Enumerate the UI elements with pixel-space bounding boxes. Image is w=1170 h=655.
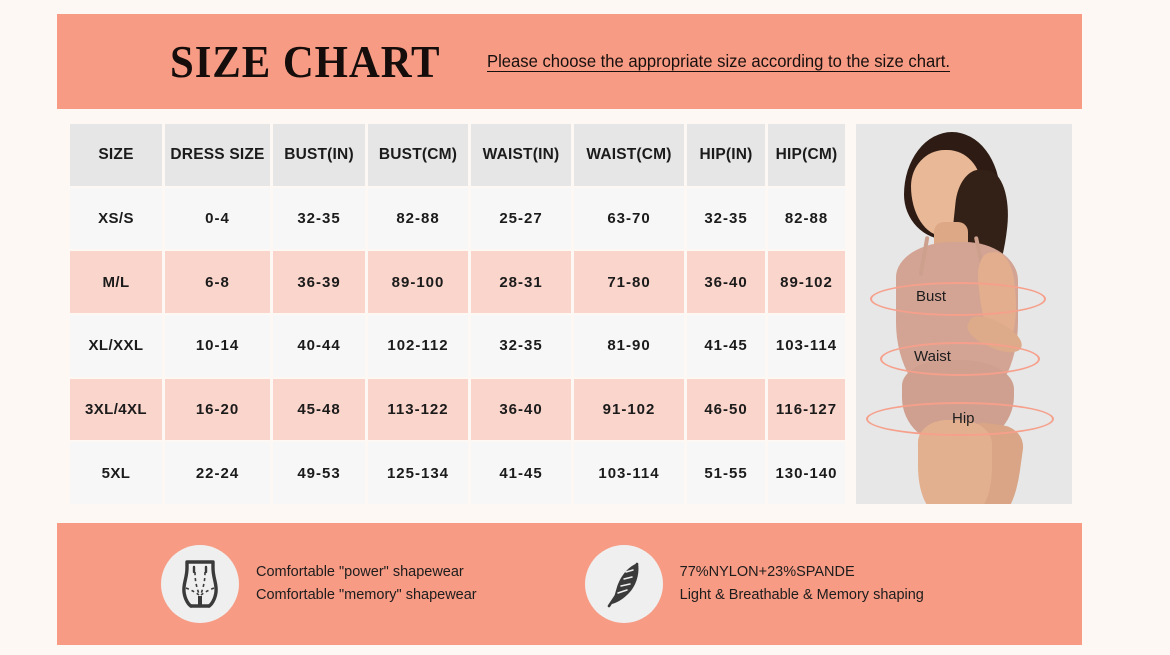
cell-dress-size: 16-20 [165,379,270,441]
column-header-size: SIZE [70,124,162,186]
feature-fabric-line1: 77%NYLON+23%SPANDE [680,561,924,584]
cell-size: 3XL/4XL [70,379,162,441]
cell-hip-in: 32-35 [687,188,765,250]
cell-bust-in: 32-35 [273,188,365,250]
page-title: SIZE CHART [170,39,440,85]
cell-hip-in: 36-40 [687,251,765,313]
cell-waist-in: 32-35 [471,315,571,377]
column-header-hip-cm: HIP(CM) [768,124,845,186]
cell-hip-cm: 116-127 [768,379,845,441]
cell-bust-cm: 102-112 [368,315,468,377]
cell-hip-in: 46-50 [687,379,765,441]
cell-bust-cm: 125-134 [368,442,468,504]
feature-shapewear-text: Comfortable "power" shapewear Comfortabl… [256,561,477,608]
cell-waist-in: 41-45 [471,442,571,504]
feather-icon [585,545,663,623]
column-header-bust-in: BUST(IN) [273,124,365,186]
feature-shapewear-line1: Comfortable "power" shapewear [256,561,477,584]
cell-waist-cm: 63-70 [574,188,684,250]
cell-size: 5XL [70,442,162,504]
bust-label: Bust [916,288,946,305]
cell-dress-size: 10-14 [165,315,270,377]
table-row: M/L 6-8 36-39 89-100 28-31 71-80 36-40 8… [70,251,845,313]
cell-dress-size: 0-4 [165,188,270,250]
cell-bust-in: 45-48 [273,379,365,441]
column-header-bust-cm: BUST(CM) [368,124,468,186]
footer-band: Comfortable "power" shapewear Comfortabl… [57,523,1082,645]
table-row: XS/S 0-4 32-35 82-88 25-27 63-70 32-35 8… [70,188,845,250]
cell-hip-in: 41-45 [687,315,765,377]
cell-waist-cm: 81-90 [574,315,684,377]
feature-shapewear: Comfortable "power" shapewear Comfortabl… [161,545,477,623]
cell-waist-cm: 91-102 [574,379,684,441]
column-header-dress-size: DRESS SIZE [165,124,270,186]
waist-measure-ring [880,342,1040,376]
cell-dress-size: 6-8 [165,251,270,313]
header-subtitle: Please choose the appropriate size accor… [487,51,950,72]
bust-measure-ring [870,282,1046,316]
column-header-waist-in: WAIST(IN) [471,124,571,186]
cell-waist-in: 36-40 [471,379,571,441]
cell-bust-in: 40-44 [273,315,365,377]
table-row: 5XL 22-24 49-53 125-134 41-45 103-114 51… [70,442,845,504]
cell-waist-in: 28-31 [471,251,571,313]
table-row: XL/XXL 10-14 40-44 102-112 32-35 81-90 4… [70,315,845,377]
hip-label: Hip [952,410,975,427]
cell-bust-in: 49-53 [273,442,365,504]
cell-size: XL/XXL [70,315,162,377]
cell-size: XS/S [70,188,162,250]
model-photo: Bust Waist Hip [856,124,1072,504]
cell-size: M/L [70,251,162,313]
table-row: 3XL/4XL 16-20 45-48 113-122 36-40 91-102… [70,379,845,441]
cell-bust-cm: 82-88 [368,188,468,250]
cell-waist-cm: 103-114 [574,442,684,504]
table-header-row: SIZE DRESS SIZE BUST(IN) BUST(CM) WAIST(… [70,124,845,186]
feature-fabric-line2: Light & Breathable & Memory shaping [680,584,924,607]
feature-fabric-text: 77%NYLON+23%SPANDE Light & Breathable & … [680,561,924,608]
cell-hip-cm: 82-88 [768,188,845,250]
cell-bust-cm: 113-122 [368,379,468,441]
header-band: SIZE CHART Please choose the appropriate… [57,14,1082,109]
shapewear-torso-icon [161,545,239,623]
cell-waist-cm: 71-80 [574,251,684,313]
cell-bust-in: 36-39 [273,251,365,313]
cell-waist-in: 25-27 [471,188,571,250]
chart-body: SIZE DRESS SIZE BUST(IN) BUST(CM) WAIST(… [70,124,1072,504]
waist-label: Waist [914,348,951,365]
column-header-hip-in: HIP(IN) [687,124,765,186]
cell-bust-cm: 89-100 [368,251,468,313]
column-header-waist-cm: WAIST(CM) [574,124,684,186]
feature-shapewear-line2: Comfortable "memory" shapewear [256,584,477,607]
feature-fabric: 77%NYLON+23%SPANDE Light & Breathable & … [585,545,924,623]
cell-dress-size: 22-24 [165,442,270,504]
cell-hip-cm: 130-140 [768,442,845,504]
cell-hip-cm: 103-114 [768,315,845,377]
cell-hip-cm: 89-102 [768,251,845,313]
cell-hip-in: 51-55 [687,442,765,504]
size-table: SIZE DRESS SIZE BUST(IN) BUST(CM) WAIST(… [70,124,845,504]
